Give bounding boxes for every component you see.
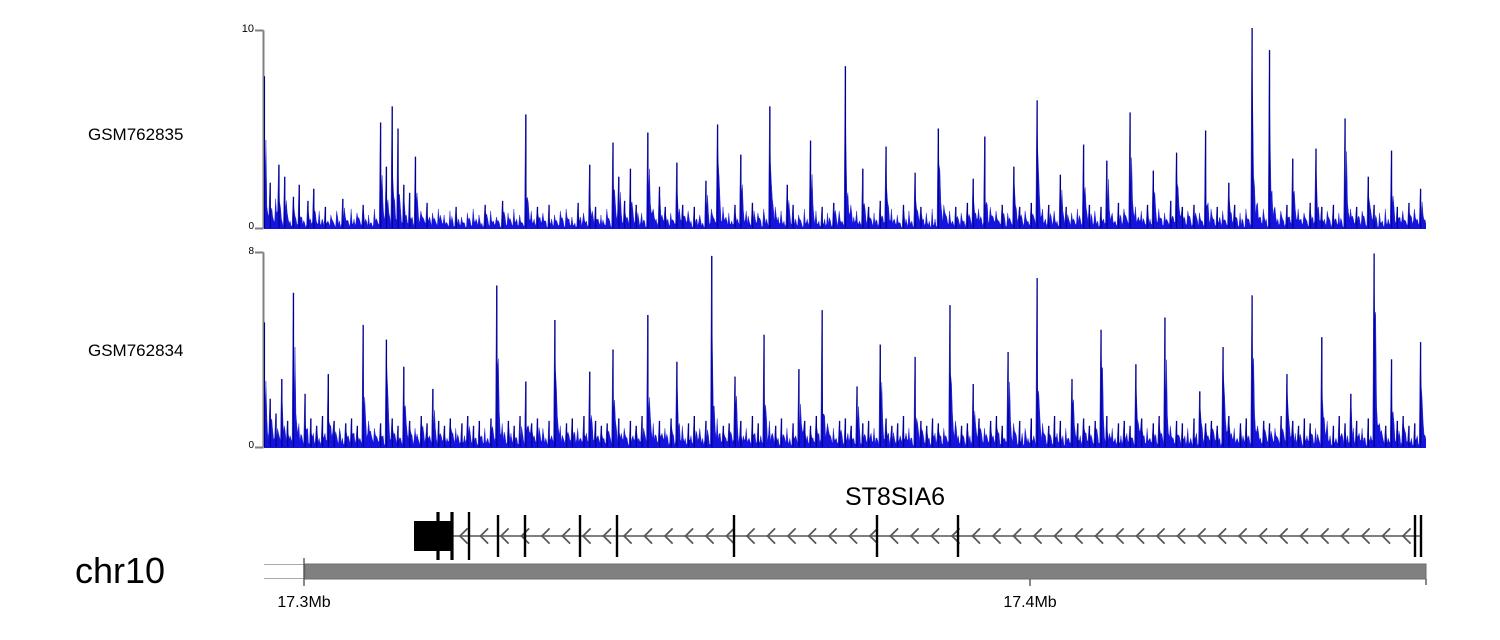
chromosome-label: chr10 [75,550,165,592]
gene-model-glyph[interactable] [260,505,1440,563]
track-label-gsm762834: GSM762834 [88,341,183,361]
track1-signal-plot [264,28,1426,229]
track1-axis-min-label: 0 [222,221,254,232]
track2-axis-min-label: 0 [222,440,254,451]
track2-axis-max-label: 8 [222,246,254,257]
track1-axis-max-label: 10 [222,23,254,35]
track-label-gsm762835: GSM762835 [88,125,183,145]
track2-signal-plot [264,251,1426,448]
axis-tick-label-left: 17.3Mb [277,594,330,612]
genome-browser-view: GSM762835 10 0 GSM762834 8 0 ST8SIA6 chr… [0,0,1500,640]
axis-tick-label-right: 17.4Mb [1003,594,1056,612]
axis-bar-glyph[interactable] [258,558,1438,594]
